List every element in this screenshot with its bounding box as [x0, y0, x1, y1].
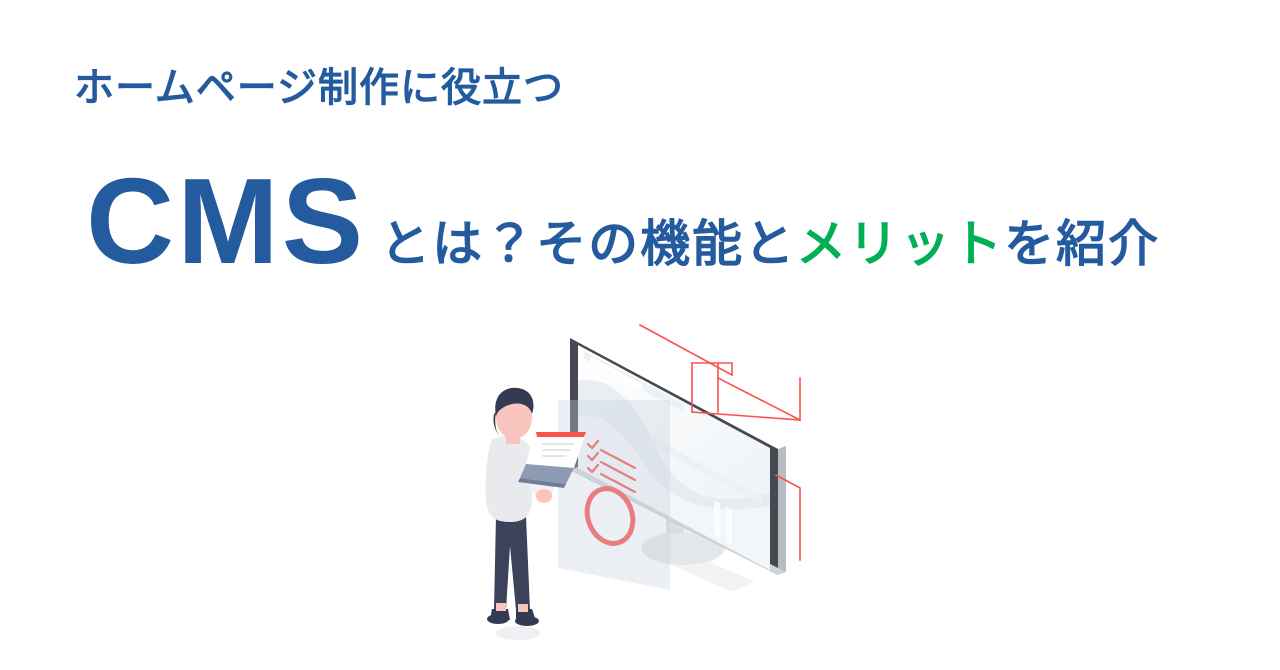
- headline-title-row: CMS とは？その機能とメリットを紹介: [86, 160, 1160, 282]
- person-ankle-left: [496, 603, 506, 611]
- screen-vbar-1: [714, 500, 720, 538]
- screen-vbar-2: [726, 506, 732, 544]
- illustration-svg: [470, 320, 850, 670]
- person-figure: [485, 388, 554, 640]
- headline-tail-highlight: メリット: [796, 215, 1004, 273]
- translucent-overlay-panel: [558, 400, 670, 590]
- page-root: ホームページ制作に役立つ CMS とは？その機能とメリットを紹介: [0, 0, 1280, 670]
- headline-tail: とは？その機能とメリットを紹介: [380, 219, 1160, 269]
- headline-tail-segment-2: を紹介: [1004, 215, 1160, 273]
- person-ankle-right: [518, 604, 528, 612]
- headline-tail-segment-1: とは？その機能と: [380, 215, 796, 273]
- headline-kicker: ホームページ制作に役立つ: [74, 68, 564, 108]
- person-shoe-left-sole: [487, 614, 509, 624]
- person-shoe-right-sole: [515, 616, 539, 626]
- person-foot-shadow: [496, 626, 540, 640]
- headline-main-term: CMS: [86, 160, 366, 282]
- person-pants: [494, 516, 530, 610]
- person-hand: [536, 489, 552, 503]
- isometric-cms-monitor-illustration: [470, 320, 850, 670]
- laptop-screen-topbar: [536, 432, 586, 437]
- wire-diagonal-2: [718, 378, 800, 420]
- monitor-frame-edge: [778, 446, 786, 575]
